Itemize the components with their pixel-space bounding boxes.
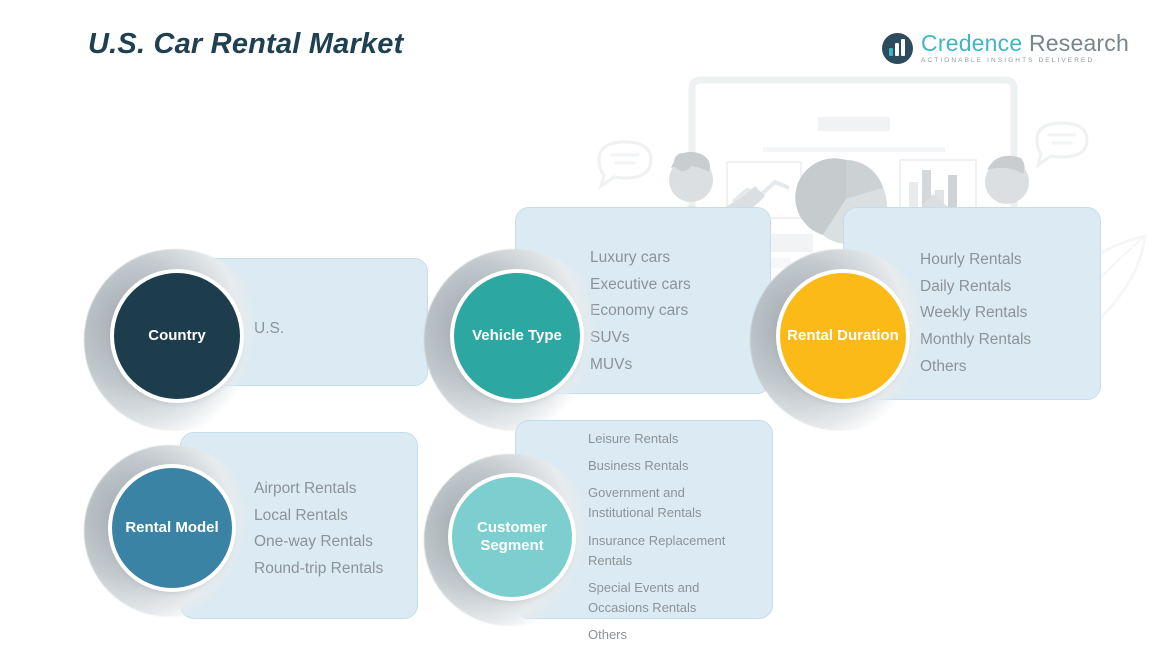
segment-disc-wrap-country: Country <box>84 249 266 431</box>
brand-logo-text: Credence Research Actionable Insights De… <box>921 32 1129 65</box>
segment-disc-wrap-customer-segment: Customer Segment <box>424 454 596 626</box>
list-item: Insurance Replacement Rentals <box>588 531 773 571</box>
page-title: U.S. Car Rental Market <box>88 28 403 61</box>
segment-items-customer-segment: Leisure RentalsBusiness RentalsGovernmen… <box>588 429 773 652</box>
brand-tagline: Actionable Insights Delivered <box>921 58 1129 65</box>
list-item: Business Rentals <box>588 456 773 476</box>
list-item: Others <box>588 625 773 645</box>
segment-label-rental-duration[interactable]: Rental Duration <box>780 273 906 399</box>
segment-label-country[interactable]: Country <box>114 273 240 399</box>
list-item: Special Events and Occasions Rentals <box>588 578 773 618</box>
bar-chart-circle-icon <box>882 33 913 64</box>
segment-disc-wrap-vehicle-type: Vehicle Type <box>424 249 606 431</box>
segment-disc-wrap-rental-model: Rental Model <box>84 445 256 617</box>
brand-name-secondary: Research <box>1029 30 1129 56</box>
segment-items-country: U.S. <box>254 316 414 343</box>
segment-items-rental-model: Airport Rentals Local Rentals One-way Re… <box>254 476 434 583</box>
list-item: Leisure Rentals <box>588 429 773 449</box>
list-item: Government and Institutional Rentals <box>588 483 773 523</box>
brand-name-primary: Credence <box>921 30 1022 56</box>
segment-disc-wrap-rental-duration: Rental Duration <box>750 249 932 431</box>
brand-logo: Credence Research Actionable Insights De… <box>882 32 1129 65</box>
brand-name: Credence Research <box>921 32 1129 55</box>
segment-items-vehicle-type: Luxury cars Executive cars Economy cars … <box>590 245 770 378</box>
segment-label-customer-segment[interactable]: Customer Segment <box>452 477 572 597</box>
segment-label-vehicle-type[interactable]: Vehicle Type <box>454 273 580 399</box>
segment-items-rental-duration: Hourly Rentals Daily Rentals Weekly Rent… <box>920 247 1110 380</box>
segment-label-rental-model[interactable]: Rental Model <box>112 468 232 588</box>
